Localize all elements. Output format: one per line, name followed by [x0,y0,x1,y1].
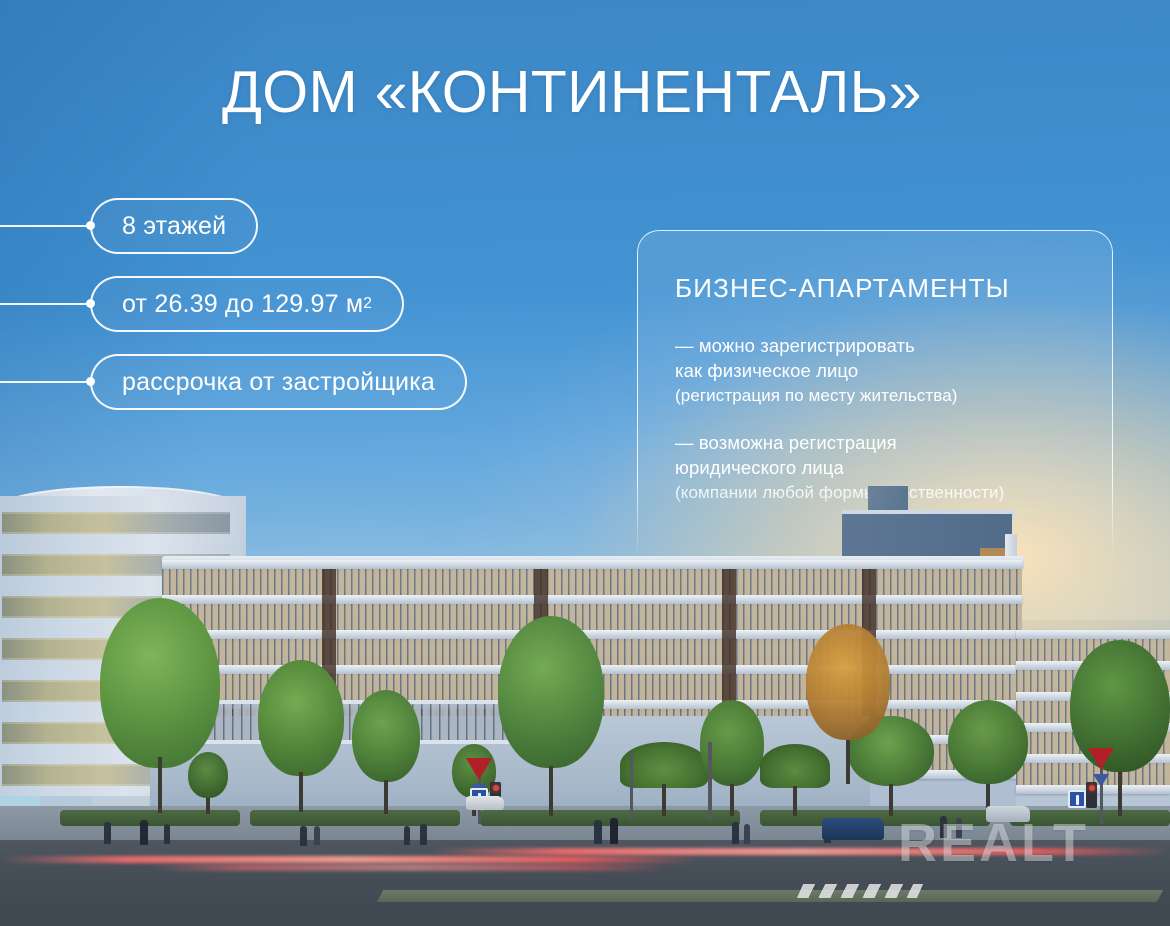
badge-connector-line-2 [0,303,92,305]
yield-sign [466,758,492,780]
badge-installment: рассрочка от застройщика [90,354,467,410]
badge-connector-line-3 [0,381,92,383]
badge-floors: 8 этажей [90,198,258,254]
street-tree [258,660,344,812]
pedestrian [956,818,962,838]
pedestrian [732,822,739,844]
car-light-trail [0,856,700,863]
tree-trunk [730,784,734,816]
parked-car [986,806,1030,822]
pedestrian [404,826,410,845]
tree-trunk [158,757,162,813]
badge-installment-label: рассрочка от застройщика [122,368,435,397]
info-panel-heading: БИЗНЕС-АПАРТАМЕНТЫ [675,273,1112,304]
parked-car [466,796,504,810]
street-tree [498,616,604,816]
tree-crown [806,624,890,740]
info-block-legal-entity-line-1: — возможна регистрация [675,430,1112,455]
pedestrian [940,816,947,838]
tree-crown [188,752,228,798]
tree-trunk [1118,772,1122,816]
pedestrian-crossing-sign [1068,790,1086,808]
tree-trunk [206,798,210,814]
tree-trunk [549,766,553,816]
badge-area-range-label: от 26.39 до 129.97 м [122,290,363,319]
pedestrian [594,820,602,844]
pedestrian [744,824,750,844]
tree-trunk [662,784,666,816]
street-tree [620,742,708,816]
badge-floors-label: 8 этажей [122,212,226,241]
crosswalk-marking [797,884,923,898]
street-tree-autumn [806,624,890,784]
facade-slab [162,595,1022,604]
pedestrian [104,822,111,844]
facade-glass-floor [162,569,1022,595]
tree-crown [948,700,1028,784]
badge-area-range: от 26.39 до 129.97 м2 [90,276,404,332]
median-curb [377,890,1163,902]
pedestrian [164,824,170,844]
tree-crown [1070,640,1170,772]
street-tree [188,752,228,814]
tree-crown [100,598,220,768]
pedestrian [610,818,618,844]
page-title: ДОМ «КОНТИНЕНТАЛЬ» [222,58,922,126]
pedestrian [420,824,427,845]
street-tree [948,700,1028,816]
tree-trunk [793,786,797,816]
right-wing-slab [1016,630,1170,639]
street-tree [352,690,420,814]
pedestrian [140,820,148,845]
info-block-legal-entity-line-2: юридического лица [675,455,1112,480]
lamp-post [630,752,633,820]
lamp-post [708,742,712,820]
car-light-trail [150,864,670,871]
facade-slab [162,560,1022,569]
tree-crown [498,616,604,768]
badge-connector-line-1 [0,225,92,227]
info-block-individual-line-1: — можно зарегистрировать [675,333,1112,358]
promo-banner: ДОМ «КОНТИНЕНТАЛЬ» 8 этажей от 26.39 до … [0,0,1170,926]
pedestrian [300,826,307,846]
tree-trunk [889,784,893,816]
parked-car [822,818,884,840]
tree-trunk [299,772,303,812]
traffic-light [1086,782,1097,808]
tree-trunk [384,780,388,814]
pedestrian [314,826,320,845]
info-block-individual-line-3: (регистрация по месту жительства) [675,383,1112,408]
tree-crown [620,742,708,788]
tree-crown [258,660,344,776]
left-tower-window-band [2,512,230,534]
tree-trunk [846,740,850,784]
info-block-individual-line-2: как физическое лицо [675,358,1112,383]
info-block-individual: — можно зарегистрировать как физическое … [675,333,1112,408]
tree-crown [352,690,420,782]
yield-sign [1088,748,1114,770]
car-light-trail [430,848,1170,855]
